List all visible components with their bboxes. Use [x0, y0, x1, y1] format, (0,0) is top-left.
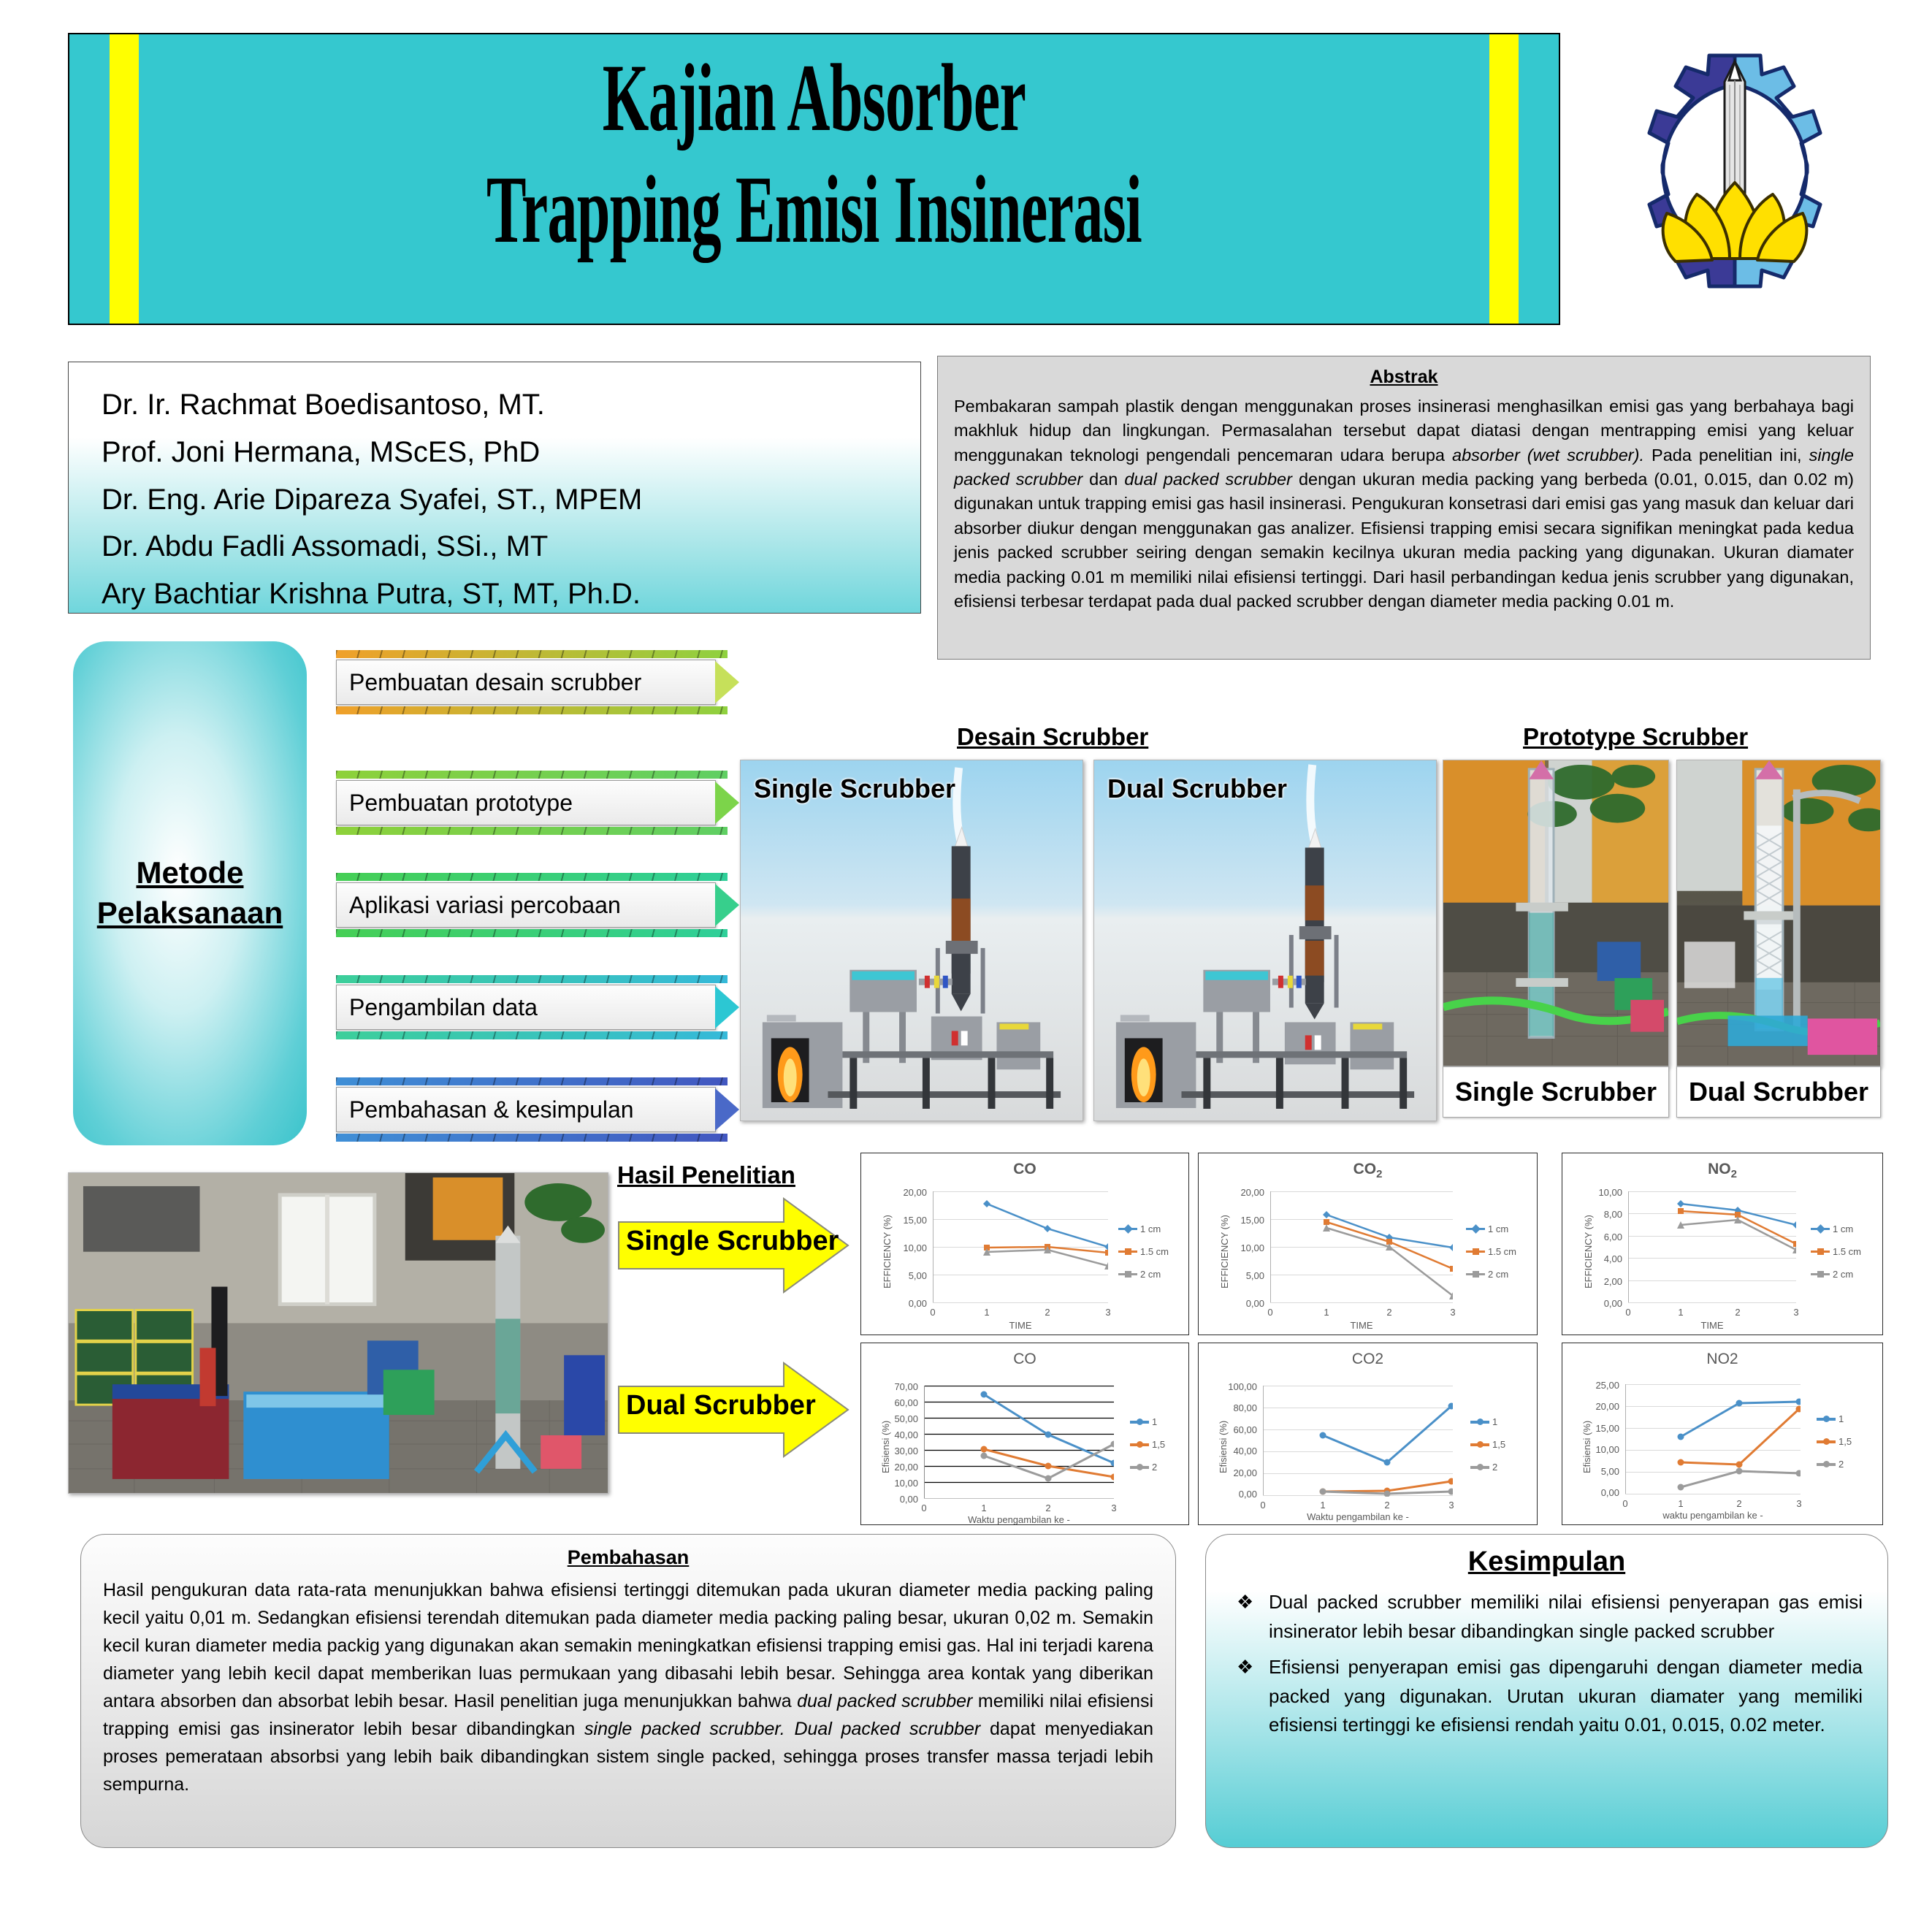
step-band-bottom: [336, 706, 728, 714]
chart-x-axis-label: TIME: [1270, 1320, 1453, 1331]
chart-legend: 1 cm 1.5 cm 2 cm: [1811, 1223, 1861, 1291]
chart-x-axis-label: waktu pengambilan ke -: [1625, 1510, 1801, 1521]
chart-dual-no2: NO2 Efisiensi (%) 25,00 20,00 15,00 10,0…: [1562, 1343, 1883, 1525]
step-box: Pembahasan & kesimpulan: [336, 1087, 716, 1132]
method-step-5: Pembahasan & kesimpulan: [336, 1087, 716, 1132]
method-title: MetodePelaksanaan: [97, 853, 283, 933]
prototype-dual-caption: Dual Scrubber: [1689, 1077, 1868, 1107]
y-tick: 15,00: [1574, 1423, 1619, 1434]
dual-scrubber-arrow-label: Dual Scrubber: [626, 1390, 809, 1421]
chart-dual-co: CO Efisiensi (%) 70,00 60,00 50,00 40,00…: [860, 1343, 1189, 1525]
step-band-top: [336, 650, 728, 658]
method-step-2: Pembuatan prototype: [336, 780, 716, 825]
legend-item: 2 cm: [1118, 1269, 1169, 1280]
y-tick: 10,00: [1574, 1444, 1619, 1455]
x-tick: 3: [1437, 1500, 1466, 1511]
chart-title: CO2: [1199, 1351, 1537, 1368]
chart-title: CO: [861, 1161, 1188, 1178]
x-tick: 2: [1034, 1503, 1063, 1513]
its-logo: [1600, 29, 1870, 292]
kesimpulan-list: ❖ Dual packed scrubber memiliki nilai ef…: [1231, 1588, 1863, 1740]
x-tick: 0: [1611, 1498, 1640, 1509]
y-tick: 10,00: [1578, 1187, 1622, 1198]
chart-dual-co2: CO2 Efisiensi (%) 100,00 80,00 60,00 40,…: [1198, 1343, 1538, 1525]
x-tick: 0: [1248, 1500, 1278, 1511]
chart-legend: 1 1,5 2: [1817, 1413, 1852, 1481]
step-band-bottom: [336, 1031, 728, 1039]
chart-x-axis-label: Waktu pengambilan ke -: [1263, 1511, 1453, 1522]
x-tick: 2: [1372, 1500, 1402, 1511]
desain-dual-scrubber-image: Dual Scrubber: [1093, 760, 1437, 1121]
dual-scrubber-arrow: Dual Scrubber: [617, 1359, 851, 1461]
y-tick: 80,00: [1209, 1402, 1257, 1413]
author-name: Dr. Eng. Arie Dipareza Syafei, ST., MPEM: [102, 476, 920, 524]
y-tick: 20,00: [883, 1187, 927, 1198]
x-tick: 1: [969, 1503, 999, 1513]
step-label: Pembuatan prototype: [349, 790, 573, 817]
step-arrow-tip: [715, 986, 739, 1028]
chart-legend: 1 1,5 2: [1130, 1416, 1165, 1484]
legend-item: 2: [1817, 1459, 1852, 1470]
legend-item: 1: [1130, 1416, 1165, 1427]
step-box: Pembuatan desain scrubber: [336, 660, 716, 705]
y-tick: 6,00: [1578, 1232, 1622, 1242]
y-tick: 10,00: [874, 1478, 918, 1489]
prototype-single-caption: Single Scrubber: [1455, 1077, 1657, 1107]
y-tick: 60,00: [1209, 1424, 1257, 1435]
x-tick: 1: [1666, 1498, 1695, 1509]
poster-header-banner: Kajian Absorber Trapping Emisi Insineras…: [68, 33, 1560, 325]
legend-item: 1.5 cm: [1118, 1246, 1169, 1257]
y-tick: 60,00: [874, 1397, 918, 1408]
kesimpulan-item-text: Dual packed scrubber memiliki nilai efis…: [1269, 1591, 1863, 1642]
y-tick: 5,00: [1221, 1270, 1264, 1281]
prototype-dual-caption-box: Dual Scrubber: [1676, 1066, 1881, 1118]
poster-title-line-2: Trapping Emisi Insinerasi: [352, 161, 1275, 259]
step-label: Pembahasan & kesimpulan: [349, 1096, 634, 1123]
y-tick: 15,00: [883, 1215, 927, 1226]
chart-title: NO2: [1562, 1351, 1882, 1368]
prototype-dual-scrubber-image: [1676, 760, 1881, 1066]
author-name: Ary Bachtiar Krishna Putra, ST, MT, Ph.D…: [102, 570, 920, 618]
legend-item: 1.5 cm: [1466, 1246, 1516, 1257]
step-label: Aplikasi variasi percobaan: [349, 892, 621, 919]
y-tick: 10,00: [883, 1242, 927, 1253]
step-box: Pembuatan prototype: [336, 780, 716, 825]
y-tick: 4,00: [1578, 1253, 1622, 1264]
x-tick: 3: [1784, 1498, 1814, 1509]
prototype-single-caption-box: Single Scrubber: [1443, 1066, 1669, 1118]
poster-title-line-1: Kajian Absorber: [352, 49, 1275, 148]
chart-legend: 1 cm 1.5 cm 2 cm: [1118, 1223, 1169, 1291]
diamond-bullet-icon: ❖: [1237, 1588, 1253, 1617]
x-tick: 3: [1099, 1503, 1129, 1513]
method-step-1: Pembuatan desain scrubber: [336, 660, 716, 705]
chart-legend: 1 cm 1.5 cm 2 cm: [1466, 1223, 1516, 1291]
y-tick: 50,00: [874, 1413, 918, 1424]
x-tick: 3: [1438, 1307, 1467, 1318]
x-tick: 1: [1666, 1307, 1695, 1318]
author-name: Dr. Abdu Fadli Assomadi, SSi., MT: [102, 523, 920, 570]
step-arrow-tip: [715, 782, 739, 824]
step-band-bottom: [336, 929, 728, 937]
chart-single-no2: NO2 EFFICIENCY (%) 10,00 8,00 6,00 4,00 …: [1562, 1153, 1883, 1335]
x-tick: 0: [909, 1503, 939, 1513]
abstract-heading: Abstrak: [954, 367, 1854, 388]
y-tick: 0,00: [1574, 1487, 1619, 1498]
list-item: ❖ Efisiensi penyerapan emisi gas dipenga…: [1231, 1653, 1863, 1740]
y-tick: 70,00: [874, 1381, 918, 1392]
y-tick: 40,00: [1209, 1446, 1257, 1456]
y-tick: 0,00: [1209, 1489, 1257, 1500]
x-tick: 2: [1033, 1307, 1062, 1318]
x-tick: 0: [1256, 1307, 1285, 1318]
chart-single-co: CO EFFICIENCY (%) 20,00 15,00 10,00 5,00…: [860, 1153, 1189, 1335]
y-tick: 20,00: [1574, 1401, 1619, 1412]
desain-single-caption: Single Scrubber: [754, 774, 955, 804]
x-tick: 1: [1312, 1307, 1341, 1318]
step-band-top: [336, 771, 728, 779]
chart-x-axis-label: TIME: [933, 1320, 1108, 1331]
legend-item: 2 cm: [1811, 1269, 1861, 1280]
step-box: Pengambilan data: [336, 985, 716, 1030]
step-band-top: [336, 975, 728, 983]
y-tick: 100,00: [1209, 1381, 1257, 1392]
step-arrow-tip: [715, 661, 739, 703]
chart-title: CO2: [1199, 1161, 1537, 1180]
desain-scrubber-heading: Desain Scrubber: [957, 723, 1148, 751]
diamond-bullet-icon: ❖: [1237, 1653, 1253, 1682]
desain-single-scrubber-image: Single Scrubber: [740, 760, 1083, 1121]
y-tick: 30,00: [874, 1446, 918, 1456]
hasil-penelitian-heading: Hasil Penelitian: [617, 1161, 795, 1189]
legend-item: 1 cm: [1811, 1223, 1861, 1234]
kesimpulan-box: Kesimpulan ❖ Dual packed scrubber memili…: [1205, 1534, 1888, 1848]
kesimpulan-heading: Kesimpulan: [1231, 1546, 1863, 1578]
legend-item: 1.5 cm: [1811, 1246, 1861, 1257]
list-item: ❖ Dual packed scrubber memiliki nilai ef…: [1231, 1588, 1863, 1646]
chart-legend: 1 1,5 2: [1470, 1416, 1505, 1484]
legend-item: 1: [1470, 1416, 1505, 1427]
method-step-4: Pengambilan data: [336, 985, 716, 1030]
y-tick: 25,00: [1574, 1380, 1619, 1391]
x-tick: 2: [1723, 1307, 1752, 1318]
method-title-block: MetodePelaksanaan: [73, 641, 307, 1145]
legend-item: 1 cm: [1466, 1223, 1516, 1234]
chart-x-axis-label: TIME: [1628, 1320, 1796, 1331]
pembahasan-heading: Pembahasan: [103, 1546, 1153, 1569]
y-tick: 20,00: [1221, 1187, 1264, 1198]
step-label: Pengambilan data: [349, 994, 538, 1021]
legend-item: 1: [1817, 1413, 1852, 1424]
legend-item: 2: [1470, 1462, 1505, 1473]
y-tick: 8,00: [1578, 1209, 1622, 1220]
step-arrow-tip: [715, 1088, 739, 1131]
pembahasan-box: Pembahasan Hasil pengukuran data rata-ra…: [80, 1534, 1176, 1848]
x-tick: 0: [1614, 1307, 1643, 1318]
chart-title: NO2: [1562, 1161, 1882, 1180]
x-tick: 3: [1093, 1307, 1123, 1318]
legend-item: 1,5: [1817, 1436, 1852, 1447]
step-box: Aplikasi variasi percobaan: [336, 882, 716, 928]
legend-item: 1 cm: [1118, 1223, 1169, 1234]
x-tick: 2: [1725, 1498, 1754, 1509]
chart-x-axis-label: Waktu pengambilan ke -: [924, 1514, 1114, 1525]
abstract-box: Abstrak Pembakaran sampah plastik dengan…: [937, 356, 1871, 660]
prototype-scrubber-heading: Prototype Scrubber: [1523, 723, 1748, 751]
step-band-top: [336, 873, 728, 881]
x-tick: 3: [1782, 1307, 1811, 1318]
step-arrow-tip: [715, 884, 739, 926]
step-band-top: [336, 1077, 728, 1085]
y-tick: 20,00: [874, 1462, 918, 1473]
legend-item: 2 cm: [1466, 1269, 1516, 1280]
pembahasan-text: Hasil pengukuran data rata-rata menunjuk…: [103, 1576, 1153, 1798]
y-tick: 5,00: [883, 1270, 927, 1281]
legend-item: 1,5: [1470, 1439, 1505, 1450]
step-label: Pembuatan desain scrubber: [349, 669, 641, 696]
step-band-bottom: [336, 1134, 728, 1142]
x-tick: 1: [972, 1307, 1001, 1318]
laboratory-setup-photo: [68, 1172, 608, 1494]
method-step-3: Aplikasi variasi percobaan: [336, 882, 716, 928]
y-tick: 40,00: [874, 1429, 918, 1440]
step-band-bottom: [336, 827, 728, 835]
single-scrubber-arrow: Single Scrubber: [617, 1194, 851, 1297]
author-name: Dr. Ir. Rachmat Boedisantoso, MT.: [102, 381, 920, 429]
desain-dual-caption: Dual Scrubber: [1107, 774, 1287, 804]
x-tick: 2: [1375, 1307, 1404, 1318]
y-tick: 20,00: [1209, 1467, 1257, 1478]
legend-item: 2: [1130, 1462, 1165, 1473]
authors-box: Dr. Ir. Rachmat Boedisantoso, MT. Prof. …: [68, 362, 921, 614]
kesimpulan-item-text: Efisiensi penyerapan emisi gas dipengaru…: [1269, 1656, 1863, 1736]
y-tick: 5,00: [1574, 1466, 1619, 1477]
y-tick: 10,00: [1221, 1242, 1264, 1253]
x-tick: 1: [1308, 1500, 1337, 1511]
single-scrubber-arrow-label: Single Scrubber: [626, 1226, 809, 1257]
chart-title: CO: [861, 1351, 1188, 1368]
x-tick: 0: [918, 1307, 947, 1318]
author-name: Prof. Joni Hermana, MScES, PhD: [102, 429, 920, 476]
y-tick: 2,00: [1578, 1276, 1622, 1287]
prototype-single-scrubber-image: [1443, 760, 1669, 1066]
abstract-text: Pembakaran sampah plastik dengan menggun…: [954, 394, 1854, 614]
chart-single-co2: CO2 EFFICIENCY (%) 20,00 15,00 10,00 5,0…: [1198, 1153, 1538, 1335]
y-tick: 15,00: [1221, 1215, 1264, 1226]
legend-item: 1,5: [1130, 1439, 1165, 1450]
